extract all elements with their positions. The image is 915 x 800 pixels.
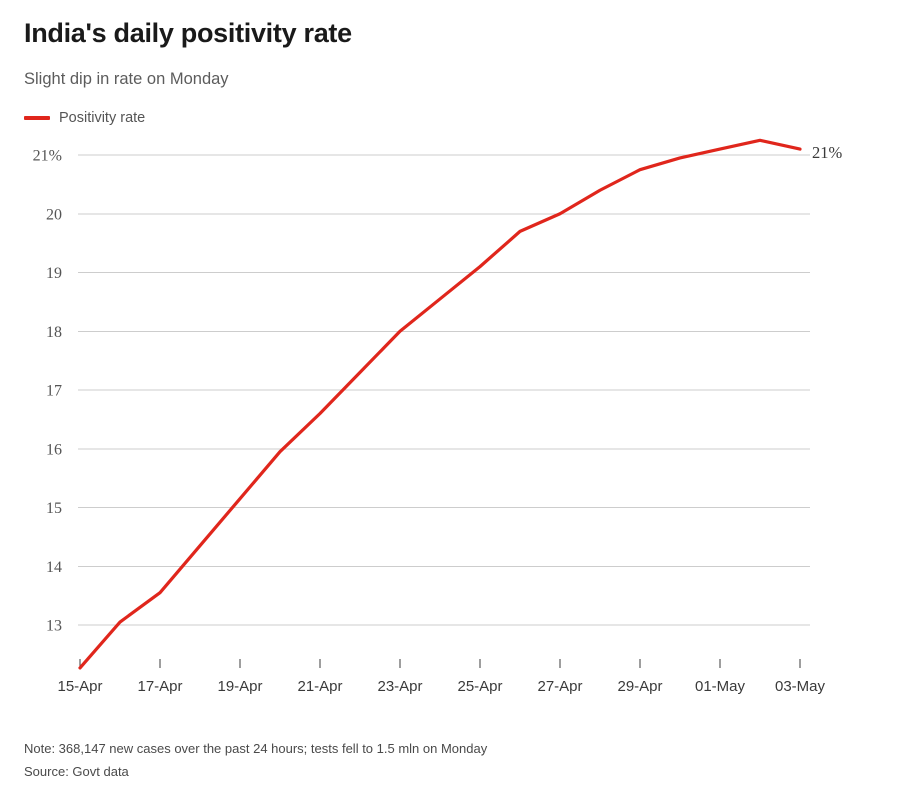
x-axis-tick-label: 23-Apr — [377, 678, 422, 695]
positivity-rate-line — [80, 140, 800, 668]
chart-page: India's daily positivity rate Slight dip… — [0, 0, 915, 800]
y-axis-tick-label: 13 — [46, 618, 62, 635]
gridlines — [78, 155, 810, 625]
y-axis-labels: 21%2019181716151413 — [33, 148, 62, 635]
x-axis-tick-label: 15-Apr — [57, 678, 102, 695]
y-axis-tick-label: 19 — [46, 265, 62, 282]
y-axis-tick-label: 21% — [33, 148, 62, 165]
end-value-annotation: 21% — [812, 143, 843, 162]
x-axis-tick-label: 21-Apr — [297, 678, 342, 695]
x-axis-tick-label: 19-Apr — [217, 678, 262, 695]
x-axis-tick-label: 27-Apr — [537, 678, 582, 695]
y-axis-tick-label: 14 — [46, 559, 62, 576]
y-axis-tick-label: 17 — [46, 383, 62, 400]
x-axis-tick-label: 01-May — [695, 678, 746, 695]
chart-plot-area: 21%2019181716151413 15-Apr17-Apr19-Apr21… — [0, 0, 915, 800]
x-axis-tick-label: 03-May — [775, 678, 826, 695]
y-axis-tick-label: 20 — [46, 206, 62, 223]
y-axis-tick-label: 15 — [46, 500, 62, 517]
footnote-source: Source: Govt data — [24, 761, 487, 784]
x-axis-ticks — [80, 659, 800, 668]
x-axis-tick-label: 29-Apr — [617, 678, 662, 695]
line-chart-svg: 21%2019181716151413 15-Apr17-Apr19-Apr21… — [0, 0, 915, 800]
y-axis-tick-label: 16 — [46, 441, 62, 458]
chart-footnotes: Note: 368,147 new cases over the past 24… — [24, 738, 487, 784]
x-axis-tick-label: 25-Apr — [457, 678, 502, 695]
footnote-note: Note: 368,147 new cases over the past 24… — [24, 738, 487, 761]
x-axis-labels: 15-Apr17-Apr19-Apr21-Apr23-Apr25-Apr27-A… — [57, 678, 825, 695]
x-axis-tick-label: 17-Apr — [137, 678, 182, 695]
y-axis-tick-label: 18 — [46, 324, 62, 341]
